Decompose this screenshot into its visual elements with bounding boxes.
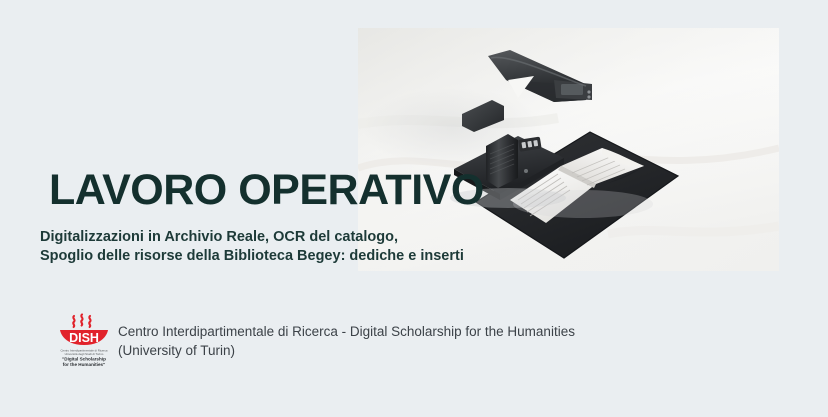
page-subtitle-line-2: Spoglio delle risorse della Biblioteca B… xyxy=(40,247,464,266)
footer-credit-row: DISH Centro Interdipartimentale di Ricer… xyxy=(57,312,575,370)
page-subtitle: Digitalizzazioni in Archivio Reale, OCR … xyxy=(40,228,464,266)
dish-tagline-2: Università degli Studi di Torino xyxy=(65,352,104,356)
steam-icon xyxy=(73,315,90,328)
dish-tagline-4: for the Humanities" xyxy=(63,362,106,367)
dish-tagline-3: "Digital Scholarship xyxy=(62,357,106,362)
footer-credit-line-1: Centro Interdipartimentale di Ricerca - … xyxy=(118,322,575,341)
footer-credit-text: Centro Interdipartimentale di Ricerca - … xyxy=(118,322,575,360)
page-title: LAVORO OPERATIVO xyxy=(49,166,484,215)
dish-wordmark: DISH xyxy=(69,331,99,345)
dish-logo-icon: DISH Centro Interdipartimentale di Ricer… xyxy=(57,312,111,370)
slide-root: LAVORO OPERATIVO Digitalizzazioni in Arc… xyxy=(0,0,828,417)
page-subtitle-line-1: Digitalizzazioni in Archivio Reale, OCR … xyxy=(40,228,464,247)
footer-credit-line-2: (University of Turin) xyxy=(118,341,575,360)
dish-logo: DISH Centro Interdipartimentale di Ricer… xyxy=(57,312,111,370)
